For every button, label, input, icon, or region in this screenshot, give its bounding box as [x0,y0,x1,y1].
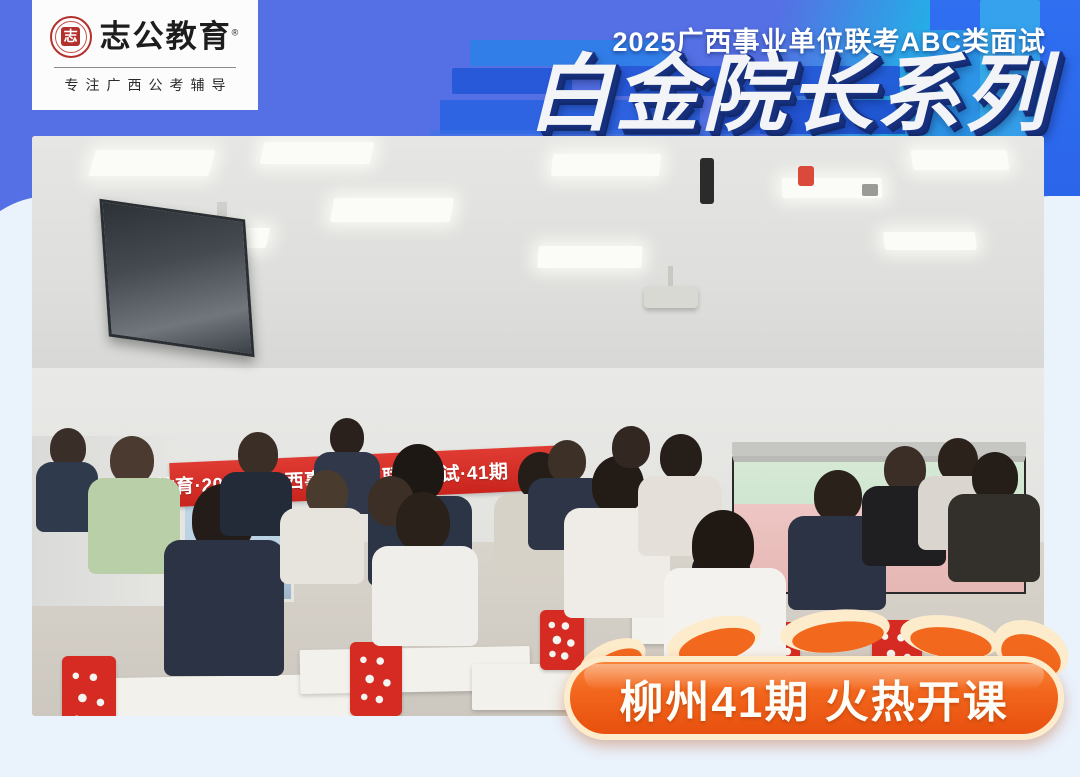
ceiling-light [883,232,977,250]
ceiling-light [551,154,661,176]
poster-root: 志 志公教育® 专注广西公考辅导 2025广西事业单位联考ABC类面试 白金院长… [0,0,1080,777]
student-head [660,434,702,480]
speaker-icon [862,184,878,196]
student-body [280,508,364,584]
header-headline: 白金院长系列 [0,52,1050,138]
student-body [164,540,284,676]
footer-badge-text: 柳州41期 火热开课 [619,666,1008,730]
ceiling-tv [99,199,254,357]
ceiling-light [330,198,454,222]
seal-char: 志 [61,27,80,46]
student-body [948,494,1040,582]
student-head [548,440,586,482]
student-head [396,492,450,552]
student-head [612,426,650,468]
projector [644,286,698,308]
projector-rod [668,266,673,288]
projection-screen-housing [732,442,1026,456]
red-chair [350,642,402,716]
footer-badge-pill: 柳州41期 火热开课 [564,656,1064,740]
camera-icon [700,158,714,204]
red-chair [62,656,116,716]
ceiling-light [260,142,375,164]
ceiling-light [911,150,1010,170]
footer-badge: 柳州41期 火热开课 [548,612,1080,752]
student-head [330,418,364,456]
student-head [238,432,278,476]
ceiling-light [537,246,643,268]
student-head [110,436,154,484]
ceiling-light [88,150,215,176]
student-head [814,470,862,522]
alarm-icon [798,166,814,186]
student-body [372,546,478,646]
